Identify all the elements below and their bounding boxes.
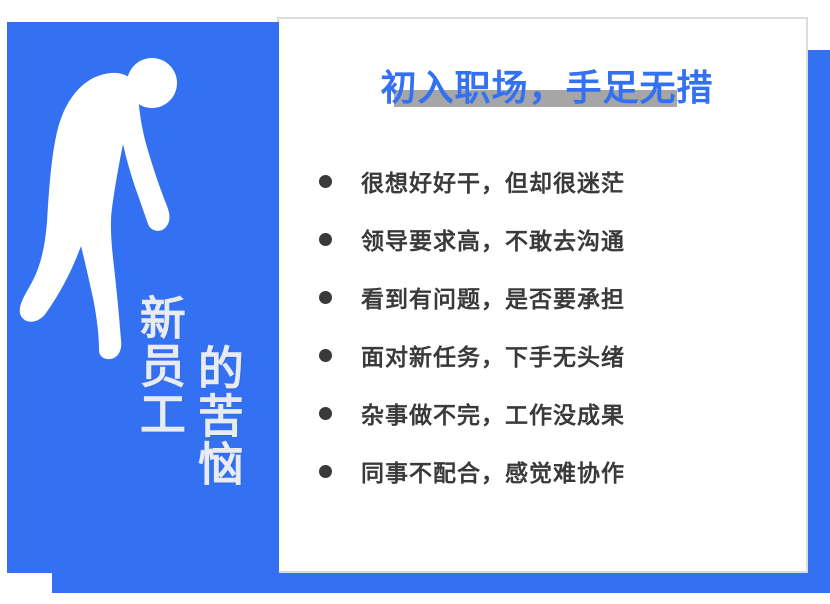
vertical-caption-primary: 新员工 bbox=[135, 294, 183, 438]
slide-canvas: 初入职场，手足无措 很想好好干，但却很迷茫 领导要求高，不敢去沟通 看到有问题，… bbox=[0, 0, 830, 604]
list-item: 同事不配合，感觉难协作 bbox=[319, 442, 769, 500]
bullet-dot-icon bbox=[319, 465, 332, 478]
bullet-dot-icon bbox=[319, 175, 332, 188]
left-blue-panel: 新员工 的苦恼 bbox=[7, 22, 279, 573]
list-item: 很想好好干，但却很迷茫 bbox=[319, 152, 769, 210]
title-block: 初入职场，手足无措 bbox=[322, 59, 772, 111]
list-item-label: 领导要求高，不敢去沟通 bbox=[361, 222, 625, 256]
list-item: 面对新任务，下手无头绪 bbox=[319, 326, 769, 384]
page-title: 初入职场，手足无措 bbox=[322, 59, 772, 111]
vertical-caption-secondary: 的苦恼 bbox=[193, 344, 241, 488]
content-card: 初入职场，手足无措 很想好好干，但却很迷茫 领导要求高，不敢去沟通 看到有问题，… bbox=[277, 17, 808, 573]
bullet-list: 很想好好干，但却很迷茫 领导要求高，不敢去沟通 看到有问题，是否要承担 面对新任… bbox=[319, 152, 769, 500]
list-item: 杂事做不完，工作没成果 bbox=[319, 384, 769, 442]
list-item-label: 杂事做不完，工作没成果 bbox=[361, 396, 625, 430]
list-item-label: 看到有问题，是否要承担 bbox=[361, 280, 625, 314]
list-item-label: 很想好好干，但却很迷茫 bbox=[361, 164, 625, 198]
list-item-label: 同事不配合，感觉难协作 bbox=[361, 454, 625, 488]
bullet-dot-icon bbox=[319, 349, 332, 362]
bullet-dot-icon bbox=[319, 407, 332, 420]
list-item: 看到有问题，是否要承担 bbox=[319, 268, 769, 326]
list-item-label: 面对新任务，下手无头绪 bbox=[361, 338, 625, 372]
bullet-dot-icon bbox=[319, 233, 332, 246]
list-item: 领导要求高，不敢去沟通 bbox=[319, 210, 769, 268]
bullet-dot-icon bbox=[319, 291, 332, 304]
